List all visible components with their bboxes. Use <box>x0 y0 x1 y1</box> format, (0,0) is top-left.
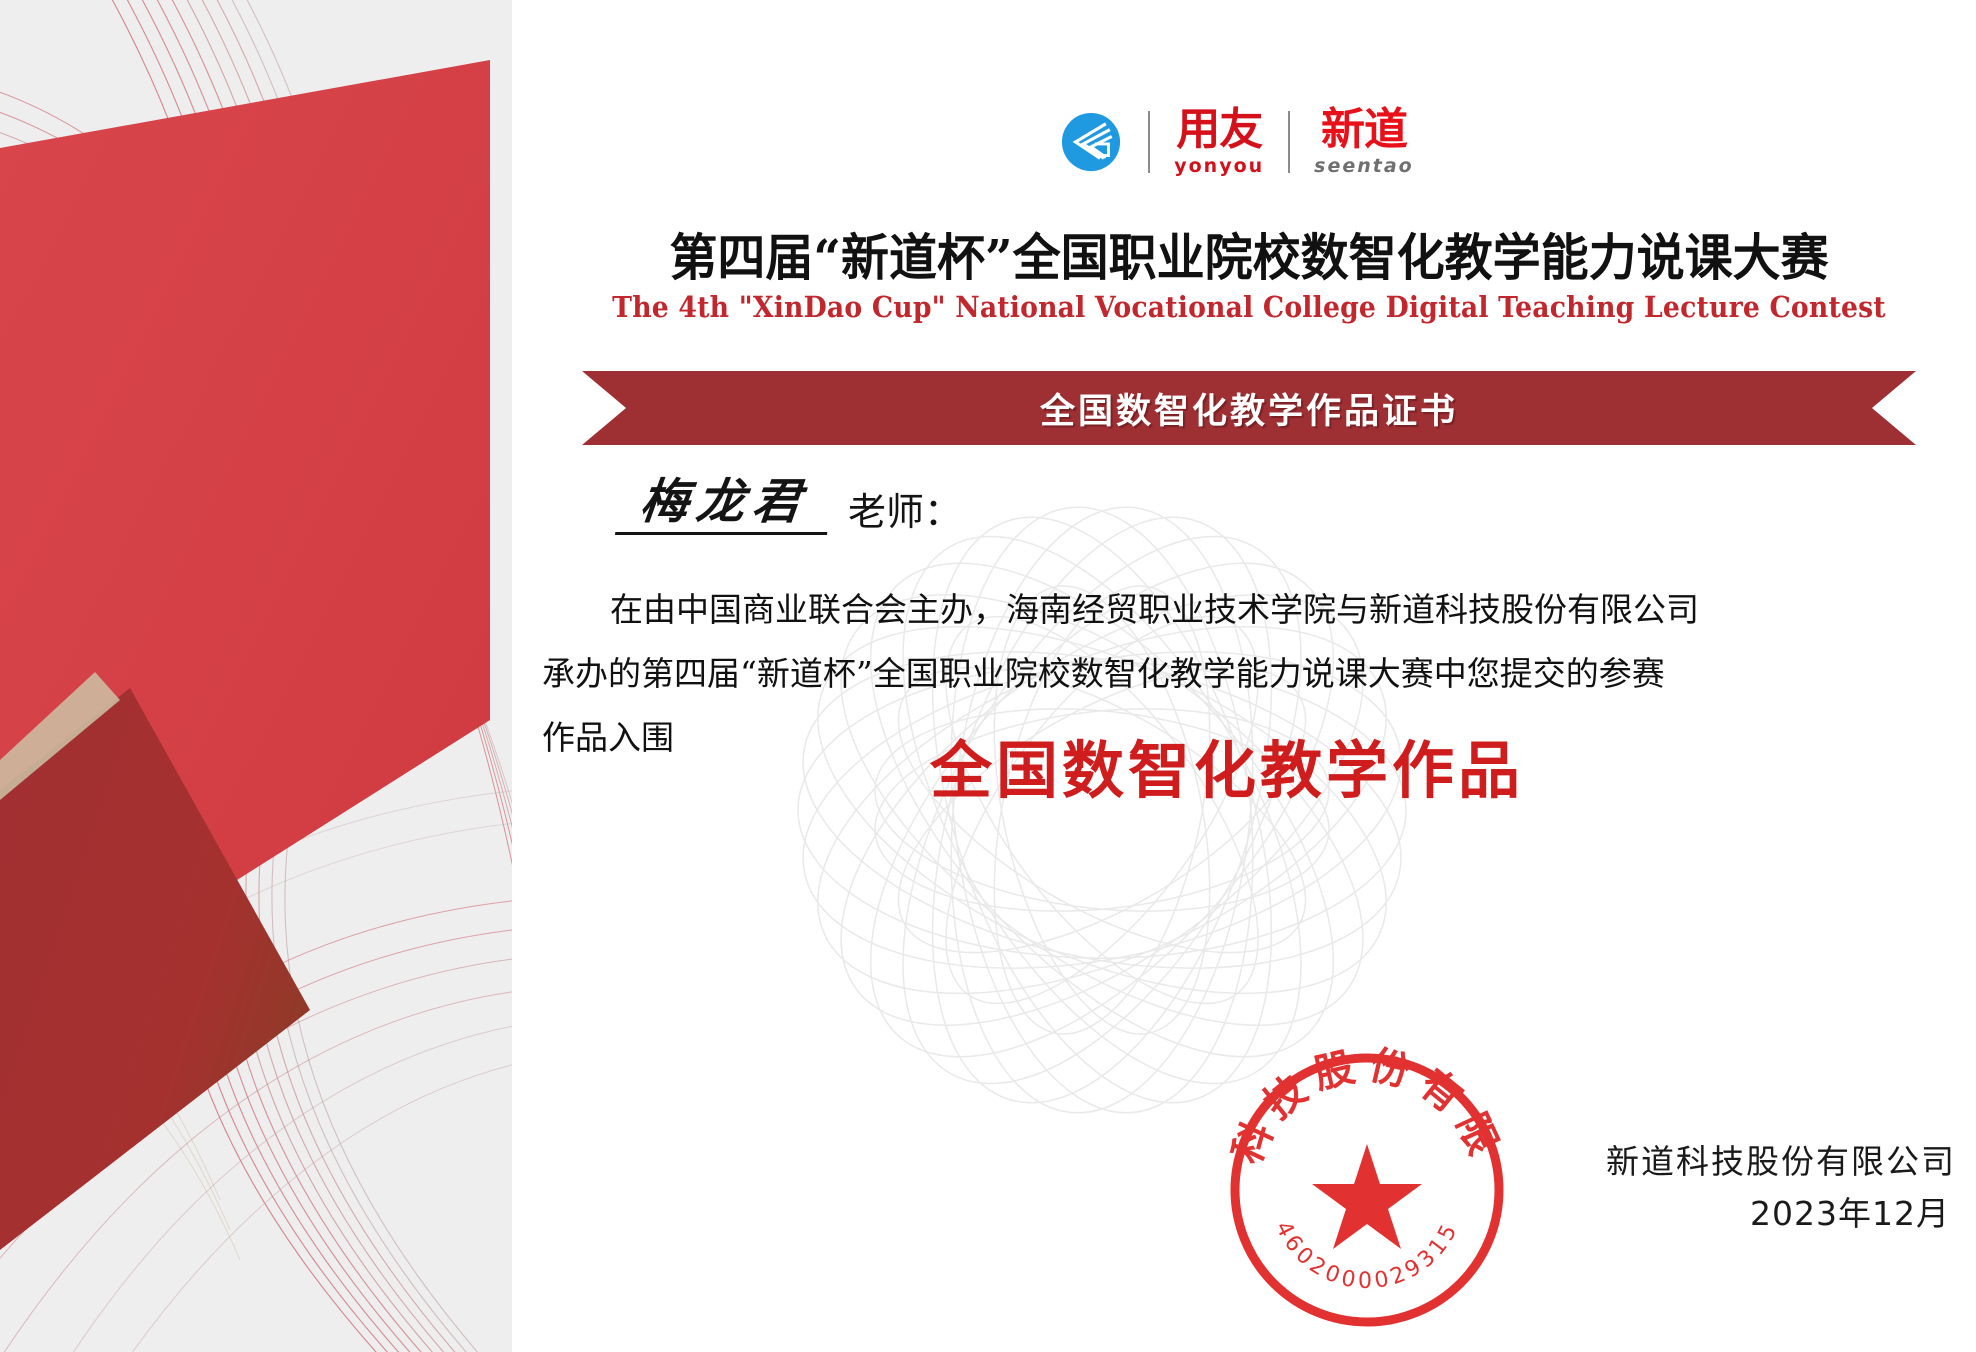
body-line-2: 承办的第四届“新道杯”全国职业院校数智化教学能力说课大赛中您提交的参赛 <box>542 642 1932 706</box>
certificate-page: 用友 yonyou 新道 seentao 第四届“新道杯”全国职业院校数智化教学… <box>0 0 1976 1352</box>
signature-block: 新道科技股份有限公司 2023年12月 <box>1316 1140 1956 1237</box>
yonyou-circular-mark-icon <box>1060 111 1122 173</box>
certificate-content: 用友 yonyou 新道 seentao 第四届“新道杯”全国职业院校数智化教学… <box>522 0 1976 1352</box>
spirograph-watermark <box>722 430 1482 1190</box>
brand-yonyou: 用友 yonyou <box>1150 108 1288 176</box>
certificate-type-ribbon: 全国数智化教学作品证书 <box>582 371 1916 445</box>
recipient-line: 梅龙君 老师： <box>618 478 962 535</box>
signing-organization: 新道科技股份有限公司 <box>1316 1140 1956 1185</box>
contest-title-english: The 4th "XinDao Cup" National Vocational… <box>580 290 1918 324</box>
contest-title-chinese: 第四届“新道杯”全国职业院校数智化教学能力说课大赛 <box>551 218 1947 290</box>
decorative-left-panel <box>0 0 522 1352</box>
recipient-name: 梅龙君 <box>615 478 833 535</box>
red-diagonal-shapes <box>0 0 522 1352</box>
panel-right-edge <box>512 0 522 1352</box>
recipient-suffix: 老师： <box>848 493 962 535</box>
signing-date: 2023年12月 <box>1316 1191 1956 1237</box>
brand-seentao-cn: 新道 <box>1321 108 1407 152</box>
brand-seentao-latin: seentao <box>1314 157 1414 176</box>
brand-yonyou-cn: 用友 <box>1176 108 1262 152</box>
brand-seentao: 新道 seentao <box>1290 108 1438 176</box>
ribbon-label: 全国数智化教学作品证书 <box>582 371 1916 445</box>
brand-yonyou-latin: yonyou <box>1174 157 1264 176</box>
brand-logo-row: 用友 yonyou 新道 seentao <box>522 108 1976 176</box>
body-line-1: 在由中国商业联合会主办，海南经贸职业技术学院与新道科技股份有限公司 <box>542 578 1932 642</box>
award-title: 全国数智化教学作品 <box>522 720 1932 810</box>
